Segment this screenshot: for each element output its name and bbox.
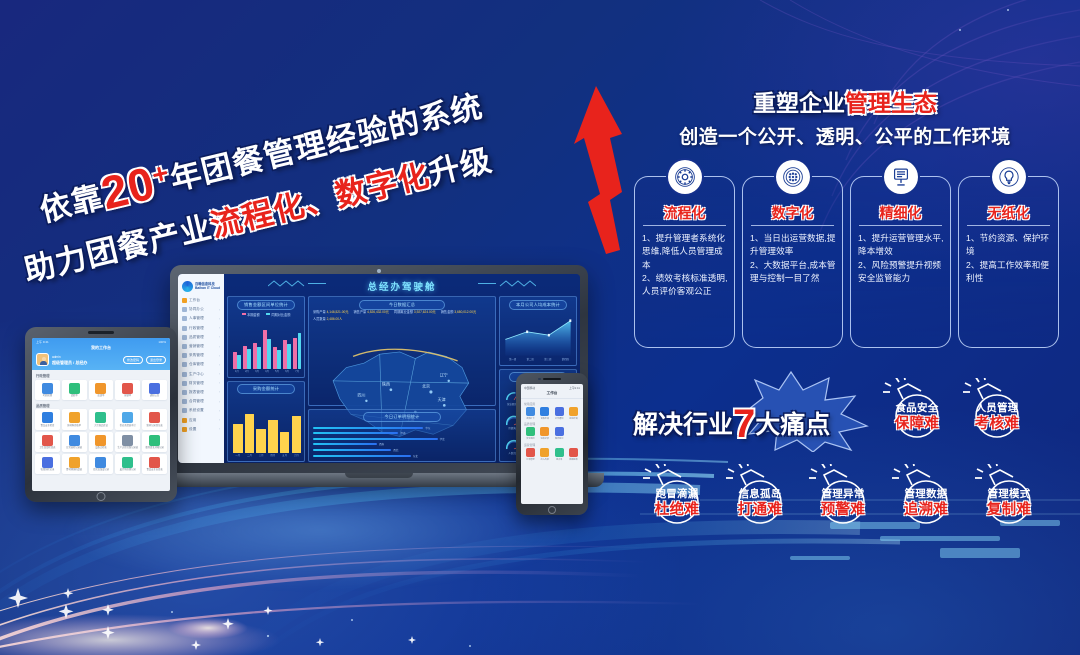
app-tile[interactable]: 库房温湿度记录 <box>89 454 114 474</box>
pain-point-badge-paomaodilou[interactable]: 跑冒滴漏 杜绝难 <box>635 464 713 526</box>
profile-actions: 修改密码 退出登录 <box>123 356 166 364</box>
document-server-icon <box>884 160 918 194</box>
menu-icon <box>182 390 187 395</box>
sidebar-item-baobiaoguanli[interactable]: 报表管理› <box>180 388 222 397</box>
list-item: 西南 <box>313 442 491 446</box>
pain-point-bottom: 杜绝难 <box>649 498 705 519</box>
app-tile[interactable]: 安全巡检 <box>524 427 537 440</box>
app-grid-admin: 考勤管理 请假单 加班单 报销单 通知公告 <box>32 380 170 400</box>
app-tile[interactable]: 验收记录 <box>538 427 551 440</box>
axis-tick: 第一周 <box>505 357 520 361</box>
pain-point-badge-renyuanguanli[interactable]: 人员管理 考核难 <box>955 378 1033 440</box>
panel-title: 采购金额统计 <box>237 384 295 394</box>
menu-icon <box>182 344 187 349</box>
chevron-right-icon: › <box>219 335 220 339</box>
app-icon <box>122 383 133 394</box>
pain-point-bottom: 考核难 <box>969 412 1025 433</box>
status-time: 上午9:41 <box>569 386 580 390</box>
axis-tick: 5月 <box>273 369 281 373</box>
app-tile[interactable]: 报销申请 <box>567 407 580 420</box>
tablet-appbar: 上午 9:41 100% 我的工作台 admin 超级管理员 / 总经办 修改密 <box>32 338 170 370</box>
chevron-right-icon: › <box>219 354 220 358</box>
bar-group <box>292 398 302 454</box>
axis-tick: 一月 <box>233 453 243 457</box>
pain-heading-number: 7 <box>733 402 755 446</box>
axis-tick: 二月 <box>245 453 255 457</box>
axis-tick: 1月 <box>233 369 241 373</box>
pain-point-bottom: 预警难 <box>815 498 871 519</box>
pain-points-heading: 解决行业7大痛点 <box>633 402 830 447</box>
app-icon <box>555 407 564 416</box>
logo-mark-icon <box>182 281 193 292</box>
app-icon <box>526 407 535 416</box>
app-icon <box>540 407 549 416</box>
list-item-label: 华东 <box>425 426 430 430</box>
menu-icon <box>182 418 187 423</box>
chevron-right-icon: › <box>219 409 220 413</box>
pain-point-badge-shipinanquan[interactable]: 食品安全 保障难 <box>875 378 953 440</box>
chevron-right-icon: › <box>219 390 220 394</box>
x-axis: 1月 2月 3月 4月 5月 6月 7月 <box>233 369 301 373</box>
menu-icon <box>182 381 187 386</box>
laptop-notch <box>345 473 413 478</box>
headline-line1-prefix: 依靠 <box>36 179 106 228</box>
app-label: 验收记录 <box>538 437 551 440</box>
panel-today-summary[interactable]: 今日数据汇总 采购产量 4,146,521.00元 销售产量 4,526,432… <box>308 296 496 406</box>
sidebar-item-pinzhiguanli[interactable]: 品质管理› <box>180 333 222 342</box>
app-label: 大宗商品验证 <box>90 425 113 428</box>
app-label: 考勤管理 <box>36 395 59 398</box>
app-tile[interactable]: 盘点单 <box>553 448 566 461</box>
app-icon <box>69 412 80 423</box>
chevron-right-icon: › <box>219 308 220 312</box>
app-tile[interactable]: 出入库单 <box>538 448 551 461</box>
app-icon <box>95 383 106 394</box>
feature-card-body: 1、提升管理者系统化思维,降低人员管理成本 2、绩效考核标准透明,人员评价客观公… <box>642 232 729 298</box>
app-icon <box>149 383 160 394</box>
panel-order-detail[interactable]: 今日订单明细统计 华东 华南 华北 西南 西北 东北 <box>308 409 496 462</box>
user-profile[interactable]: admin 超级管理员 / 总经办 修改密码 退出登录 <box>36 353 166 366</box>
app-label: 原材料验收单 <box>63 425 86 428</box>
app-tile[interactable]: 食品安全自查表 <box>142 454 167 474</box>
axis-tick: 六月 <box>292 453 302 457</box>
app-label: 订单管理 <box>524 458 537 461</box>
bar-group <box>283 319 291 369</box>
device-mockups: 百翰信息科技 Baihan IT Cloud 工作台 协同办公› 人事管理› 行… <box>0 245 620 545</box>
app-label: 食材溯源档案表 <box>63 469 86 472</box>
sidebar-item-yingyong[interactable]: 应用› <box>180 415 222 424</box>
app-icon <box>122 457 133 468</box>
phone-app-grid-quality: 安全巡检 验收记录 留样登记 <box>521 427 583 440</box>
sidebar-item-label: 协同办公 <box>189 307 204 312</box>
feature-card-body: 1、提升运营管理水平,降本增效 2、风险预警提升视频安全监管能力 <box>858 232 945 285</box>
feature-card-title: 流程化 <box>635 203 734 223</box>
menu-icon <box>182 408 187 413</box>
app-tile[interactable]: 供应商资质审计 <box>115 409 140 429</box>
right-header-title-white: 重塑企业 <box>753 90 845 116</box>
status-carrier: 中国移动 <box>524 386 535 390</box>
app-tile[interactable]: 生产过程控制记录表 <box>115 432 140 452</box>
legend-label: 本期金额 <box>247 312 260 317</box>
feature-card-shuzihua[interactable]: 数字化 1、当日出运营数据,提升管理效率 2、大数据平台,成本管理与控制一目了然 <box>742 176 843 348</box>
panel-title: 销售金额区间单位统计 <box>237 300 295 310</box>
pain-heading-prefix: 解决行业 <box>633 411 733 439</box>
sidebar-item-label: 设置 <box>189 427 196 432</box>
app-label: 农残快检记录 <box>36 469 59 472</box>
kpi-item: 人员数量 2,486.00人 <box>313 316 342 321</box>
home-button[interactable] <box>97 492 106 501</box>
bar-group <box>233 398 243 454</box>
feature-card-line: 1、提升管理者系统化思维,降低人员管理成本 <box>642 232 729 272</box>
sidebar-item-label: 应用 <box>189 418 196 423</box>
menu-icon <box>182 353 187 358</box>
title-deco-right-icon <box>478 280 536 287</box>
user-role: 超级管理员 / 总经办 <box>52 360 87 365</box>
legend-item: 同期对比金额 <box>266 312 291 317</box>
bar-group <box>280 398 290 454</box>
app-label: 供应商资质审计 <box>116 425 139 428</box>
divider <box>643 225 726 226</box>
sidebar-item-yingxiaoguanli[interactable]: 营销管理› <box>180 342 222 351</box>
app-group-title: 行政管理 <box>32 370 170 380</box>
app-label: 出入库单 <box>538 458 551 461</box>
pain-point-bottom: 保障难 <box>889 412 945 433</box>
app-icon <box>569 407 578 416</box>
axis-tick: 第三周 <box>540 357 555 361</box>
pain-heading-suffix: 大痛点 <box>755 411 830 439</box>
app-tile[interactable]: 食材溯源档案表 <box>62 454 87 474</box>
divider <box>859 225 942 226</box>
kpi-item: 采购产量 4,146,521.00元 <box>313 309 348 314</box>
sidebar-item-label: 系统设置 <box>189 408 204 413</box>
svg-text:陕西: 陕西 <box>382 380 390 386</box>
kpi-value: 3,927,624.00元 <box>414 310 436 314</box>
menu-icon <box>182 427 187 432</box>
kpi-label: 销售金额 <box>441 310 454 314</box>
tablet-page-title: 我的工作台 <box>36 345 166 351</box>
chevron-right-icon: › <box>219 427 220 431</box>
webcam-icon <box>377 269 381 273</box>
list-item-label: 东北 <box>413 454 418 458</box>
app-label: 数据报表 <box>567 458 580 461</box>
bar-group <box>263 319 271 369</box>
app-icon <box>526 427 535 436</box>
x-axis: 一月 二月 三月 四月 五月 六月 <box>233 453 301 457</box>
order-list: 华东 华南 华北 西南 西北 东北 <box>313 426 491 457</box>
app-label: 请假单 <box>63 395 86 398</box>
sidebar-item-xitongshezhi[interactable]: 系统设置› <box>180 406 222 415</box>
svg-text:辽宁: 辽宁 <box>440 371 448 377</box>
app-tile[interactable]: 公告通知 <box>553 407 566 420</box>
list-item: 西北 <box>313 448 491 452</box>
panel-purchase-amount[interactable]: 采购金额统计 <box>227 381 305 463</box>
app-icon <box>555 448 564 457</box>
headline-block: 依靠20+年团餐管理经验的系统 助力团餐产业流程化、数字化升级 <box>18 78 618 238</box>
feature-card-jingxihua[interactable]: 精细化 1、提升运营管理水平,降本增效 2、风险预警提升视频安全监管能力 <box>850 176 951 348</box>
app-label: 日常巡检记录表 <box>63 447 86 450</box>
app-icon <box>149 457 160 468</box>
list-item-label: 华北 <box>440 437 445 441</box>
app-icon <box>149 435 160 446</box>
app-tile[interactable]: 原材料验收单 <box>62 409 87 429</box>
feature-card-body: 1、当日出运营数据,提升管理效率 2、大数据平台,成本管理与控制一目了然 <box>750 232 837 285</box>
app-icon <box>95 435 106 446</box>
axis-tick: 三月 <box>256 453 266 457</box>
feature-card-body: 1、节约资源、保护环境 2、提高工作效率和便利性 <box>966 232 1053 285</box>
axis-tick: 2月 <box>243 369 251 373</box>
pain-point-badge-xinxigudao[interactable]: 信息孤岛 打通难 <box>718 464 796 526</box>
app-label: 加班单 <box>90 395 113 398</box>
feature-card-title: 精细化 <box>851 203 950 223</box>
sidebar-item-label: 合同管理 <box>189 399 204 404</box>
menu-icon <box>182 335 187 340</box>
bar-group <box>253 319 261 369</box>
phone-app-grid-common: 考勤打卡 请假申请 公告通知 报销申请 <box>521 407 583 420</box>
pain-point-badge-guanlimoshi[interactable]: 管理模式 复制难 <box>967 464 1045 526</box>
poster-canvas: 依靠20+年团餐管理经验的系统 助力团餐产业流程化、数字化升级 重塑企业管理生态… <box>0 0 1080 655</box>
legend-label: 同期对比金额 <box>271 312 290 317</box>
feature-card-title: 数字化 <box>743 203 842 223</box>
avatar <box>36 353 49 366</box>
status-bar: 上午 9:41 100% <box>36 340 166 344</box>
tablet-screen: 上午 9:41 100% 我的工作台 admin 超级管理员 / 总经办 修改密 <box>32 338 170 491</box>
axis-tick: 第四周 <box>558 357 573 361</box>
bar-group <box>256 398 266 454</box>
sidebar-item-label: 人事管理 <box>189 316 204 321</box>
axis-tick: 6月 <box>283 369 291 373</box>
bar-group <box>243 319 251 369</box>
sidebar-item-shezhi[interactable]: 设置› <box>180 425 222 434</box>
app-icon <box>69 457 80 468</box>
logout-button[interactable]: 退出登录 <box>146 356 166 364</box>
feature-card-line: 2、提高工作效率和便利性 <box>966 259 1053 286</box>
kpi-value: 4,526,432.00元 <box>367 310 389 314</box>
feature-card-line: 1、当日出运营数据,提升管理效率 <box>750 232 837 259</box>
axis-tick: 7月 <box>293 369 301 373</box>
menu-icon <box>182 362 187 367</box>
sidebar-item-hetongguanli[interactable]: 合同管理› <box>180 397 222 406</box>
app-label: 留样记录登记表 <box>143 425 166 428</box>
chevron-right-icon: › <box>219 326 220 330</box>
app-label: 报销申请 <box>567 417 580 420</box>
sidebar-item-caigouguanli[interactable]: 采购管理› <box>180 351 222 360</box>
right-header-subtitle: 创造一个公开、透明、公平的工作环境 <box>620 124 1070 152</box>
app-label: 设备点检表 <box>90 447 113 450</box>
pain-point-bottom: 追溯难 <box>898 498 954 519</box>
app-tile[interactable]: 留样登记 <box>553 427 566 440</box>
app-tile[interactable]: 请假申请 <box>538 407 551 420</box>
chip-icon <box>776 160 810 194</box>
app-grid-quality: 食品安全检查 原材料验收单 大宗商品验证 供应商资质审计 留样记录登记表 卫生监… <box>32 409 170 474</box>
feature-card-line: 1、提升运营管理水平,降本增效 <box>858 232 945 259</box>
chevron-right-icon: › <box>219 418 220 422</box>
sidebar-item-xingzhengguanli[interactable]: 行政管理› <box>180 324 222 333</box>
app-label: 库房温湿度记录 <box>90 469 113 472</box>
sidebar-item-label: 采购管理 <box>189 353 204 358</box>
app-group-title: 运营管理 <box>521 440 583 448</box>
kpi-item: 销售产量 4,526,432.00元 <box>353 309 388 314</box>
feature-cards: 流程化 1、提升管理者系统化思维,降低人员管理成本 2、绩效考核标准透明,人员评… <box>634 176 1062 348</box>
app-label: 报销单 <box>116 395 139 398</box>
app-tile[interactable]: 通知公告 <box>142 380 167 400</box>
headline-line2-suffix: 升级 <box>425 142 495 191</box>
kpi-item: 同期离业金额 3,927,624.00元 <box>394 309 436 314</box>
panel-sales-amount[interactable]: 销售金额区间单位统计 本期金额 同期对比金额 <box>227 296 305 378</box>
app-group-title: 品质管理 <box>521 420 583 428</box>
app-icon <box>42 457 53 468</box>
list-item: 华东 <box>313 426 491 430</box>
app-label: 考勤打卡 <box>524 417 537 420</box>
app-tile[interactable]: 卫生监督检查表 <box>35 432 60 452</box>
app-icon <box>42 435 53 446</box>
list-item-label: 西南 <box>379 442 384 446</box>
pain-point-bottom: 打通难 <box>732 498 788 519</box>
dashboard-column-left: 销售金额区间单位统计 本期金额 同期对比金额 <box>227 296 305 462</box>
app-tile[interactable]: 大宗商品验证 <box>89 409 114 429</box>
menu-icon <box>182 399 187 404</box>
app-icon <box>69 383 80 394</box>
menu-icon <box>182 372 187 377</box>
feature-card-liuchenghua[interactable]: 流程化 1、提升管理者系统化思维,降低人员管理成本 2、绩效考核标准透明,人员评… <box>634 176 735 348</box>
kpi-value: 3,680,012.00元 <box>454 310 476 314</box>
app-tile[interactable]: 农残快检记录 <box>35 454 60 474</box>
app-tile[interactable]: 考勤管理 <box>35 380 60 400</box>
menu-icon <box>182 326 187 331</box>
app-label: 安全巡检 <box>524 437 537 440</box>
bar-group <box>273 319 281 369</box>
app-icon <box>42 383 53 394</box>
app-group-title: 常用应用 <box>521 399 583 407</box>
app-tile[interactable]: 考勤打卡 <box>524 407 537 420</box>
sidebar-item-renshiguanli[interactable]: 人事管理› <box>180 314 222 323</box>
app-icon <box>42 412 53 423</box>
feature-card-line: 2、大数据平台,成本管理与控制一目了然 <box>750 259 837 286</box>
bar-group <box>268 398 278 454</box>
menu-icon <box>182 307 187 312</box>
kpi-value: 2,486.00人 <box>327 317 343 321</box>
app-tile[interactable]: 请假单 <box>62 380 87 400</box>
app-tile[interactable]: 设备点检表 <box>89 432 114 452</box>
kpi-label: 采购产量 <box>313 310 326 314</box>
app-tile[interactable]: 数据报表 <box>567 448 580 461</box>
area-chart <box>504 313 572 356</box>
dashboard-sidebar: 百翰信息科技 Baihan IT Cloud 工作台 协同办公› 人事管理› 行… <box>178 274 224 463</box>
phone-app-grid-ops: 订单管理 出入库单 盘点单 数据报表 <box>521 448 583 461</box>
pain-point-badge-guanliyichang[interactable]: 管理异常 预警难 <box>801 464 879 526</box>
sidebar-item-label: 生产中心 <box>189 372 204 377</box>
home-button[interactable] <box>548 506 556 514</box>
sidebar-item-shengchanzhongxin[interactable]: 生产中心› <box>180 370 222 379</box>
sidebar-item-cangkuguanli[interactable]: 仓库管理› <box>180 360 222 369</box>
app-icon <box>540 448 549 457</box>
app-tile[interactable]: 订单管理 <box>524 448 537 461</box>
app-icon <box>95 457 106 468</box>
app-label: 通知公告 <box>143 395 166 398</box>
dashboard-menu: 工作台 协同办公› 人事管理› 行政管理› 品质管理› 营销管理› 采购管理› … <box>178 296 224 434</box>
logo-text: 百翰信息科技 Baihan IT Cloud <box>195 283 220 291</box>
app-tile[interactable]: 日常巡检记录表 <box>62 432 87 452</box>
sidebar-item-gongzuotai[interactable]: 工作台 <box>180 296 222 305</box>
app-tile[interactable]: 废弃物处理记录 <box>115 454 140 474</box>
tablet-mockup: 上午 9:41 100% 我的工作台 admin 超级管理员 / 总经办 修改密 <box>25 327 177 502</box>
x-axis: 第一周 第二周 第三周 第四周 <box>505 357 573 361</box>
app-label: 留样登记 <box>553 437 566 440</box>
gear-icon <box>668 160 702 194</box>
kpi-list: 采购产量 4,146,521.00元 销售产量 4,526,432.00元 同期… <box>313 309 491 321</box>
panel-title: 本月公司人均成本统计 <box>509 300 567 310</box>
app-tile[interactable]: 食品安全检查 <box>35 409 60 429</box>
app-label: 食品安全检查 <box>36 425 59 428</box>
app-label: 废弃物处理记录 <box>116 469 139 472</box>
panel-title: 今日数据汇总 <box>359 300 445 310</box>
axis-tick: 第二周 <box>523 357 538 361</box>
app-icon <box>569 448 578 457</box>
app-tile[interactable]: 加班单 <box>89 380 114 400</box>
app-tile[interactable]: 报销单 <box>115 380 140 400</box>
feature-card-line: 2、绩效考核标准透明,人员评价客观公正 <box>642 272 729 299</box>
sidebar-item-label: 品质管理 <box>189 335 204 340</box>
sidebar-item-label: 财务管理 <box>189 381 204 386</box>
svg-text:四川: 四川 <box>358 392 366 397</box>
app-label: 请假申请 <box>538 417 551 420</box>
app-icon <box>122 412 133 423</box>
sidebar-item-xietongbangong[interactable]: 协同办公› <box>180 305 222 314</box>
divider <box>967 225 1050 226</box>
feature-card-wuzhihua[interactable]: 无纸化 1、节约资源、保护环境 2、提高工作效率和便利性 <box>958 176 1059 348</box>
sidebar-item-caiwuguanli[interactable]: 财务管理› <box>180 379 222 388</box>
right-header: 重塑企业管理生态 创造一个公开、透明、公平的工作环境 <box>620 88 1070 152</box>
app-icon <box>122 435 133 446</box>
change-password-button[interactable]: 修改密码 <box>123 356 143 364</box>
app-tile-empty <box>567 427 580 440</box>
kpi-value: 4,146,521.00元 <box>327 310 349 314</box>
bar-group <box>233 319 241 369</box>
logo-text-en: Baihan IT Cloud <box>195 287 220 291</box>
list-item-label: 西北 <box>393 448 398 452</box>
feature-card-title: 无纸化 <box>959 203 1058 223</box>
app-tile[interactable]: 餐具清洗消毒记录 <box>142 432 167 452</box>
right-header-title-red: 管理生态 <box>845 90 937 116</box>
tablet-bezel: 上午 9:41 100% 我的工作台 admin 超级管理员 / 总经办 修改密 <box>25 327 177 502</box>
bar-group <box>245 398 255 454</box>
phone-bezel: 中国移动 上午9:41 工作台 常用应用 考勤打卡 请假申请 公告通知 报销申请… <box>516 373 588 515</box>
app-icon <box>526 448 535 457</box>
menu-icon <box>182 316 187 321</box>
legend-item: 本期金额 <box>242 312 260 317</box>
panel-title: 今日订单明细统计 <box>363 412 441 422</box>
panel-per-capita-cost[interactable]: 本月公司人均成本统计 <box>499 296 577 366</box>
app-label: 公告通知 <box>553 417 566 420</box>
app-icon <box>555 427 564 436</box>
feature-card-line: 1、节约资源、保护环境 <box>966 232 1053 259</box>
kpi-item: 销售金额 3,680,012.00元 <box>441 309 476 314</box>
kpi-label: 同期离业金额 <box>394 310 413 314</box>
phone-page-title: 工作台 <box>521 390 583 400</box>
axis-tick: 五月 <box>280 453 290 457</box>
list-item: 华南 <box>313 431 491 435</box>
app-tile[interactable]: 留样记录登记表 <box>142 409 167 429</box>
sidebar-item-label: 报表管理 <box>189 390 204 395</box>
phone-mockup: 中国移动 上午9:41 工作台 常用应用 考勤打卡 请假申请 公告通知 报销申请… <box>516 373 588 515</box>
chevron-right-icon: › <box>219 317 220 321</box>
pain-point-badge-guanlishuju[interactable]: 管理数据 追溯难 <box>884 464 962 526</box>
list-item: 东北 <box>313 454 491 458</box>
svg-text:北京: 北京 <box>422 383 430 389</box>
panel-legend: 本期金额 同期对比金额 <box>228 312 304 317</box>
app-label: 餐具清洗消毒记录 <box>143 447 166 450</box>
user-name: admin <box>52 355 61 359</box>
app-icon <box>95 412 106 423</box>
